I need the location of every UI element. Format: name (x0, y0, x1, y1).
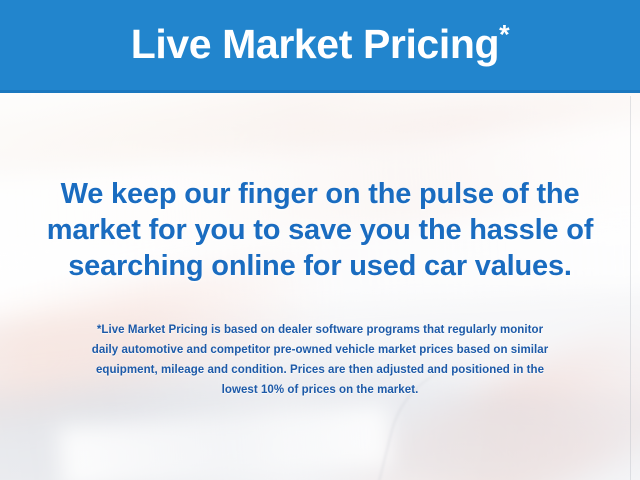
disclaimer-line-1: *Live Market Pricing is based on dealer … (0, 320, 640, 340)
disclaimer-line-2: daily automotive and competitor pre-owne… (0, 340, 640, 360)
banner-title: Live Market Pricing* (131, 24, 509, 67)
disclaimer-line-4: lowest 10% of prices on the market. (0, 380, 640, 400)
headline: We keep our finger on the pulse of the m… (0, 176, 640, 284)
banner-title-text: Live Market Pricing (131, 21, 499, 67)
right-edge-rule (630, 96, 631, 480)
disclaimer-line-3: equipment, mileage and condition. Prices… (0, 360, 640, 380)
headline-line-3: searching online for used car values. (0, 248, 640, 284)
header-banner: Live Market Pricing* (0, 0, 640, 93)
banner-title-asterisk: * (499, 19, 509, 49)
live-market-pricing-card: Live Market Pricing* We keep our finger … (0, 0, 640, 480)
disclaimer: *Live Market Pricing is based on dealer … (0, 320, 640, 400)
headline-line-2: market for you to save you the hassle of (0, 212, 640, 248)
headline-line-1: We keep our finger on the pulse of the (0, 176, 640, 212)
